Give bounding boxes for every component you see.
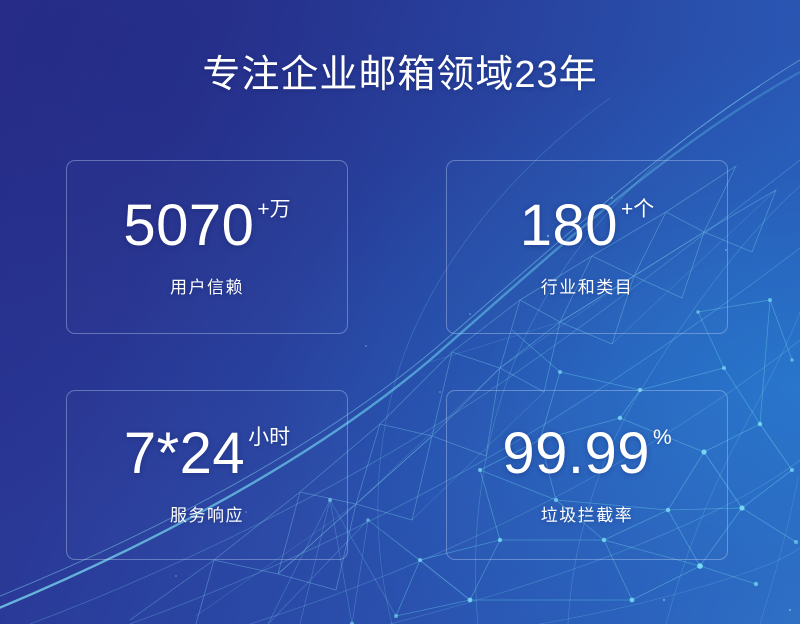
stat-number: 5070 [123,195,254,257]
stat-label: 垃圾拦截率 [541,505,634,527]
stat-unit: +个 [621,199,654,220]
stat-number: 99.99 [502,423,650,485]
page-title: 专注企业邮箱领域23年 [0,52,800,98]
stat-unit: +万 [257,199,290,220]
stat-label: 用户信赖 [170,277,244,299]
stats-grid: 5070 +万 用户信赖 180 +个 行业和类目 7*24 小时 服务响应 9… [66,160,728,558]
stat-value-row: 99.99 % [502,423,671,485]
stat-number: 180 [520,195,618,257]
stat-number: 7*24 [124,423,245,485]
stat-label: 行业和类目 [541,277,634,299]
stat-card-service-response: 7*24 小时 服务响应 [66,390,348,560]
stat-card-industries: 180 +个 行业和类目 [446,160,728,334]
page-content: 专注企业邮箱领域23年 5070 +万 用户信赖 180 +个 行业和类目 7*… [0,0,800,624]
stat-value-row: 180 +个 [520,195,655,257]
stat-label: 服务响应 [170,505,244,527]
stat-value-row: 7*24 小时 [124,423,290,485]
stat-unit: 小时 [248,427,290,448]
stat-unit: % [653,427,672,448]
stat-card-spam-interception: 99.99 % 垃圾拦截率 [446,390,728,560]
stat-card-user-trust: 5070 +万 用户信赖 [66,160,348,334]
stat-value-row: 5070 +万 [123,195,290,257]
